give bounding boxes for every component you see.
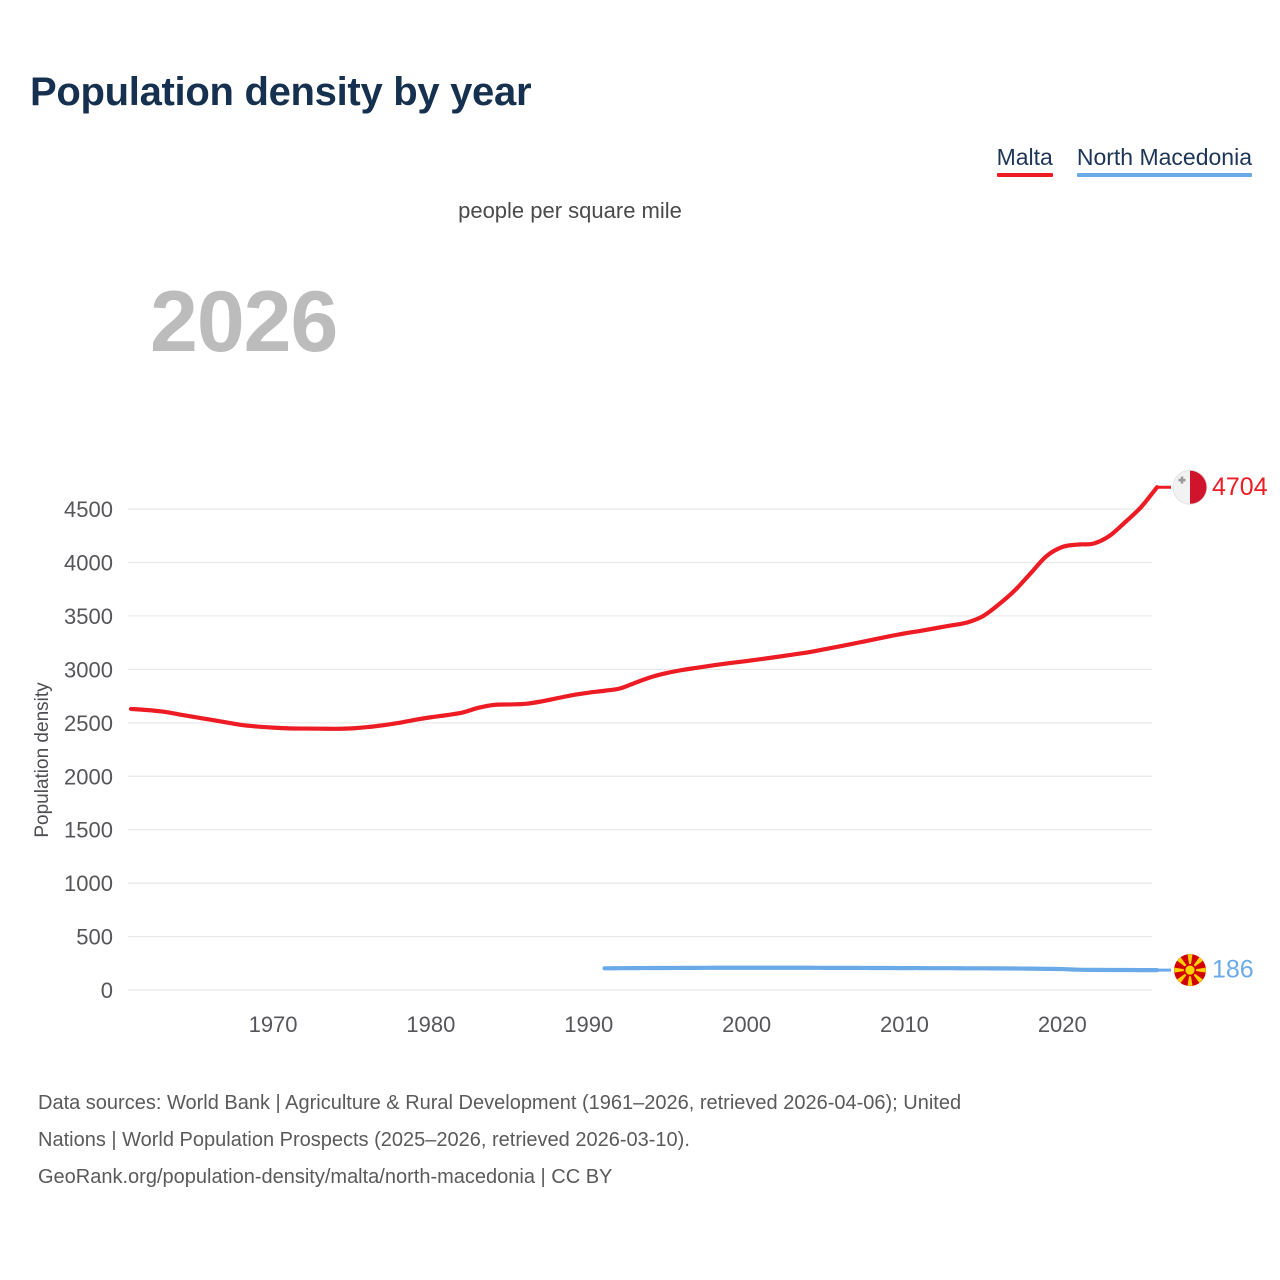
legend-label-north-macedonia: North Macedonia: [1077, 144, 1252, 170]
chart-subtitle: people per square mile: [0, 198, 1280, 224]
footer-line-1: Data sources: World Bank | Agriculture &…: [38, 1085, 1253, 1122]
endpoint-value-north-macedonia: 186: [1212, 956, 1254, 984]
y-axis-tick: 1500: [64, 818, 113, 843]
chart-legend: Malta North Macedonia: [997, 144, 1252, 177]
y-axis-tick: 2000: [64, 764, 113, 789]
chart-endpoint-markers: 4704186: [1157, 470, 1268, 986]
legend-label-malta: Malta: [997, 144, 1053, 170]
y-axis-tick: 1000: [64, 871, 113, 896]
x-axis-tick-labels: 197019801990200020102020: [249, 1012, 1087, 1037]
legend-rule-malta: [997, 173, 1053, 177]
footer-line-3: GeoRank.org/population-density/malta/nor…: [38, 1159, 1253, 1196]
series-line-north-macedonia: [605, 968, 1157, 970]
y-axis-tick: 0: [101, 978, 113, 1003]
legend-item-malta[interactable]: Malta: [997, 144, 1053, 177]
x-axis-tick: 2020: [1038, 1012, 1087, 1037]
legend-item-north-macedonia[interactable]: North Macedonia: [1077, 144, 1252, 177]
y-axis-tick: 500: [76, 925, 113, 950]
legend-rule-north-macedonia: [1077, 173, 1252, 177]
y-axis-title: Population density: [32, 682, 53, 838]
page-title: Population density by year: [30, 70, 531, 115]
x-axis-tick: 2010: [880, 1012, 929, 1037]
endpoint-value-malta: 4704: [1212, 473, 1268, 501]
malta-flag-icon: [1173, 470, 1207, 504]
footer-line-2: Nations | World Population Prospects (20…: [38, 1122, 1253, 1159]
y-axis-tick: 3000: [64, 657, 113, 682]
y-axis-tick: 2500: [64, 711, 113, 736]
y-axis-tick: 3500: [64, 604, 113, 629]
y-axis-tick: 4000: [64, 551, 113, 576]
north-macedonia-flag-icon: [1174, 954, 1206, 986]
y-axis-tick: 4500: [64, 497, 113, 522]
x-axis-tick: 1990: [564, 1012, 613, 1037]
x-axis-tick: 1970: [249, 1012, 298, 1037]
chart-series: [131, 487, 1157, 970]
series-line-malta: [131, 487, 1157, 729]
chart-plot-area: 2026 05001000150020002500300035004000450…: [0, 240, 1280, 1060]
footer-sources: Data sources: World Bank | Agriculture &…: [38, 1085, 1253, 1196]
line-chart-svg: 050010001500200025003000350040004500 197…: [0, 240, 1280, 1060]
x-axis-tick: 2000: [722, 1012, 771, 1037]
y-axis-tick-labels: 050010001500200025003000350040004500: [64, 497, 113, 1003]
chart-gridlines: [128, 509, 1152, 990]
x-axis-tick: 1980: [406, 1012, 455, 1037]
